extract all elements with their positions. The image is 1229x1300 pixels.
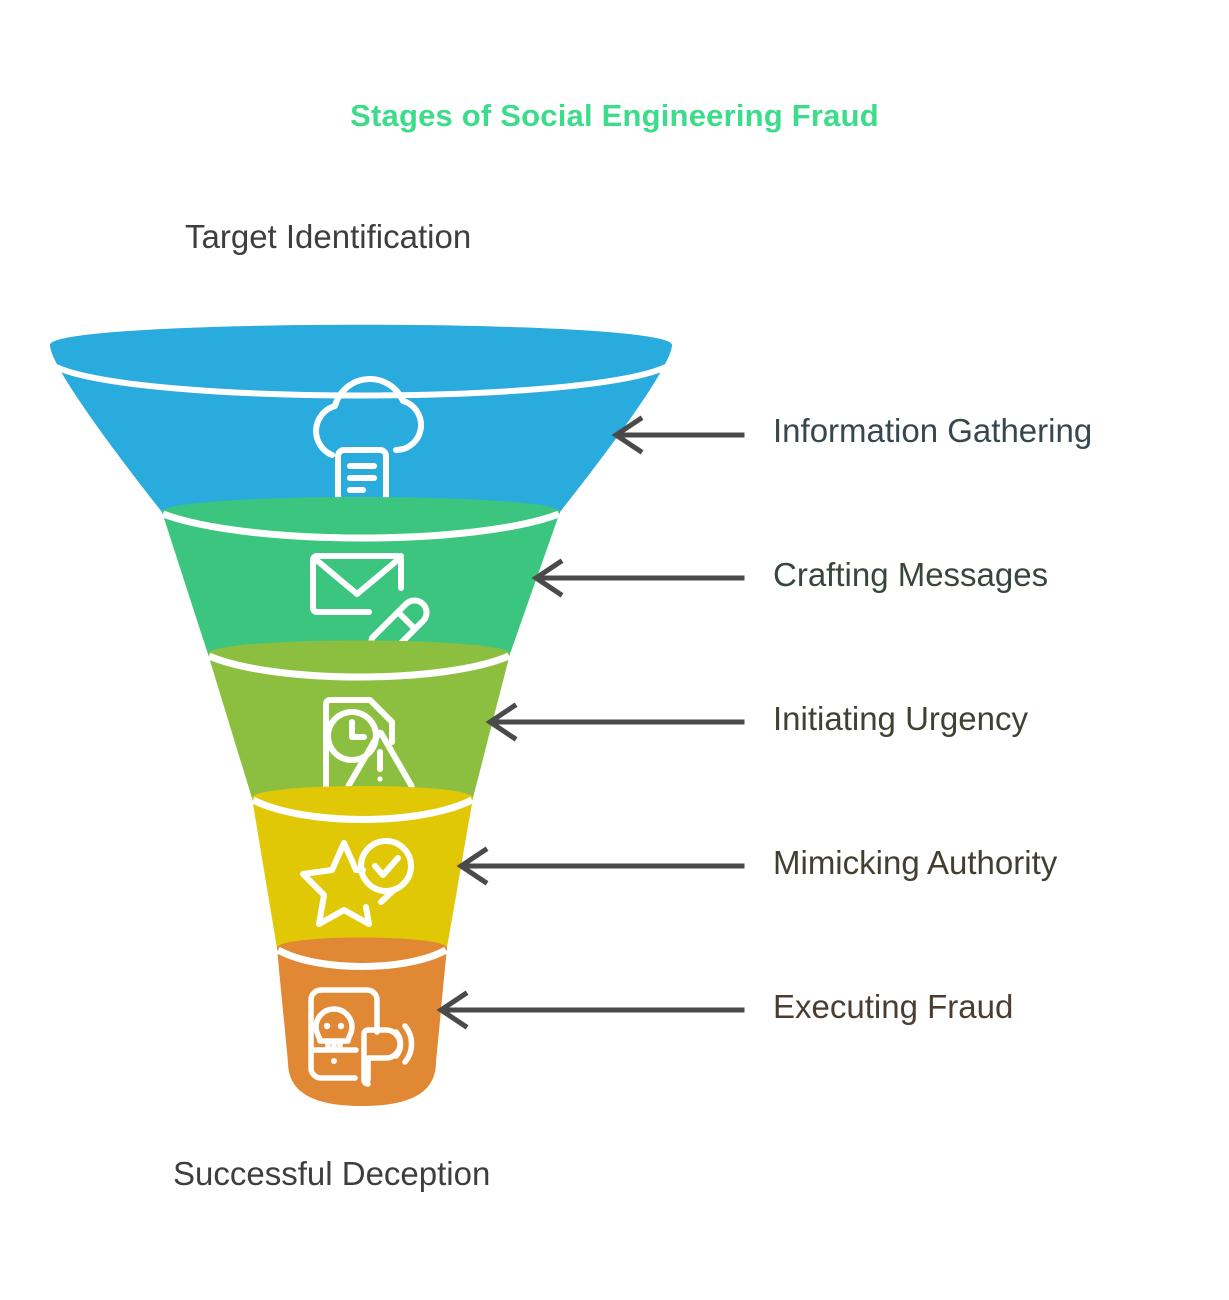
stage-label-information-gathering: Information Gathering — [773, 412, 1092, 450]
funnel-segment-mimicking-authority[interactable] — [252, 786, 473, 959]
funnel-diagram-canvas: Stages of Social Engineering Fraud Targe… — [0, 0, 1229, 1300]
arrow-to-initiating-urgency — [490, 706, 742, 738]
arrow-to-information-gathering — [616, 419, 742, 451]
funnel-graphic — [0, 0, 1229, 1300]
funnel-exit-label: Successful Deception — [173, 1155, 490, 1193]
arrow-to-crafting-messages — [536, 562, 742, 594]
stage-label-mimicking-authority: Mimicking Authority — [773, 844, 1057, 882]
funnel-segment-initiating-urgency[interactable] — [208, 641, 510, 811]
arrow-to-executing-fraud — [441, 994, 742, 1026]
funnel-segment-executing-fraud[interactable] — [277, 938, 447, 1107]
stage-label-executing-fraud: Executing Fraud — [773, 988, 1013, 1026]
arrow-to-mimicking-authority — [461, 850, 742, 882]
stage-label-crafting-messages: Crafting Messages — [773, 556, 1048, 594]
stage-label-initiating-urgency: Initiating Urgency — [773, 700, 1028, 738]
